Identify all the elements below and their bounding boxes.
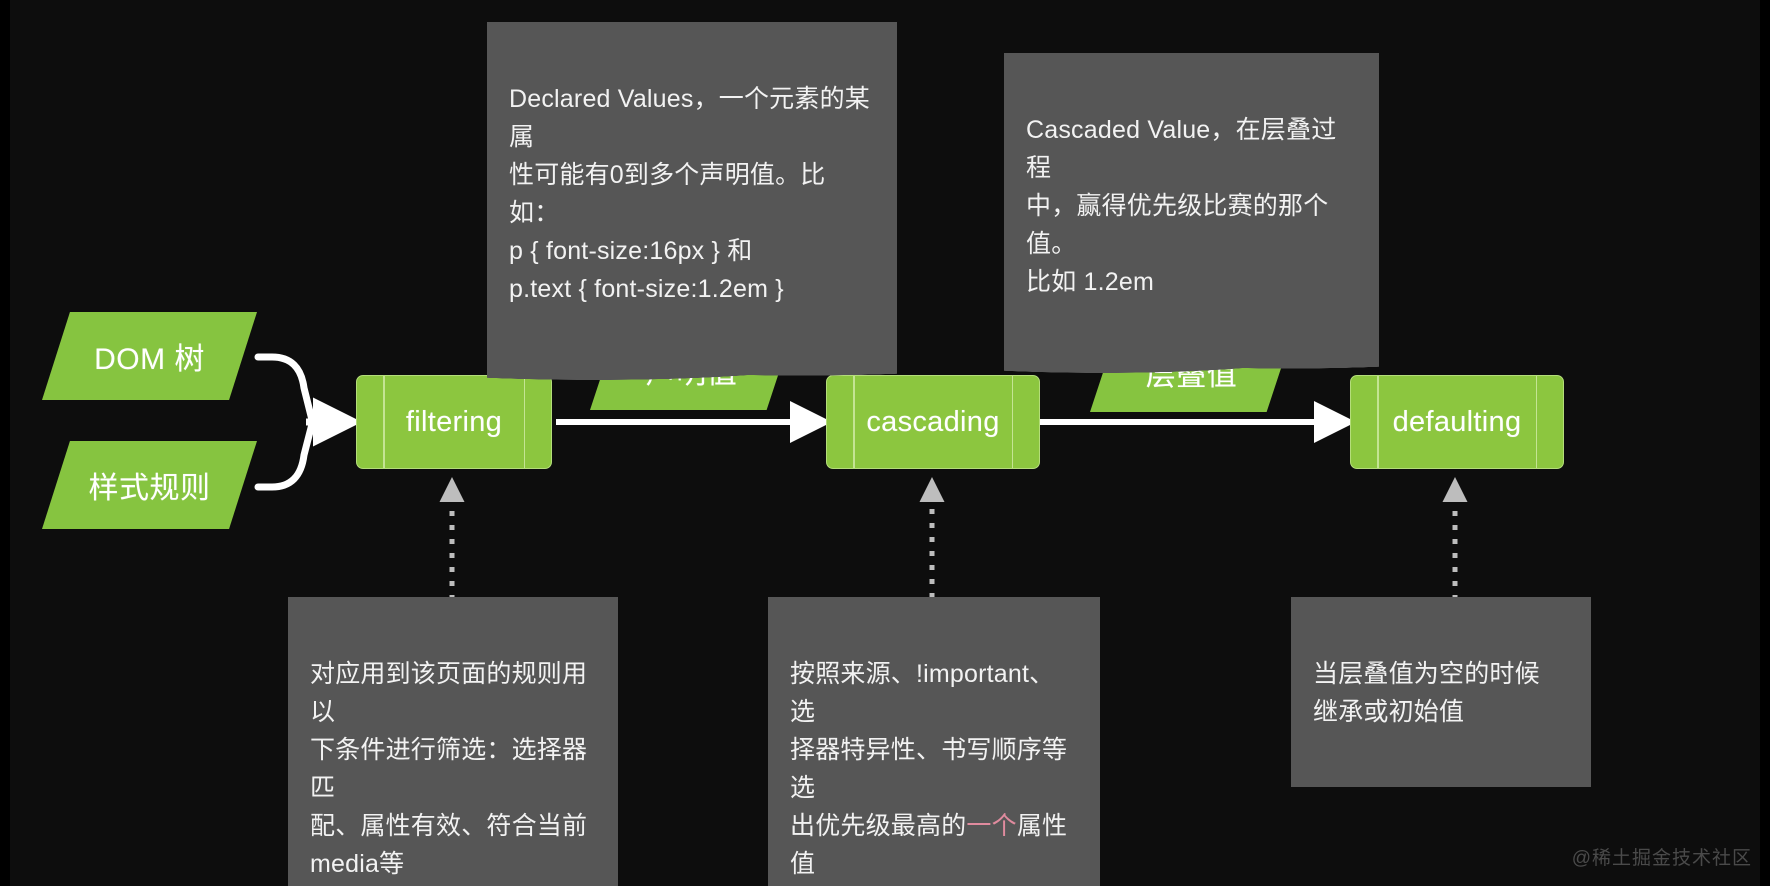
process-right-bar	[524, 376, 526, 468]
stage-cascading: cascading	[826, 375, 1040, 469]
stage-defaulting-label: defaulting	[1393, 406, 1522, 439]
input-dom-tree: DOM 树	[42, 312, 257, 400]
input-dom-tree-label: DOM 树	[94, 334, 205, 378]
note-declared-values-text: Declared Values，一个元素的某属 性可能有0到多个声明值。比如： …	[509, 85, 870, 303]
input-style-rules: 样式规则	[42, 441, 257, 529]
note-defaulting-desc-text: 当层叠值为空的时候 继承或初始值	[1313, 660, 1540, 726]
torn-edge	[1004, 353, 1379, 373]
input-style-rules-label: 样式规则	[89, 463, 211, 507]
note-filtering-desc: 对应用到该页面的规则用以 下条件进行筛选：选择器匹 配、属性有效、符合当前 me…	[288, 597, 618, 886]
diagram-canvas: Declared Values，一个元素的某属 性可能有0到多个声明值。比如： …	[0, 0, 1770, 886]
process-left-bar	[383, 376, 385, 468]
stage-defaulting: defaulting	[1350, 375, 1564, 469]
stage-cascading-label: cascading	[866, 406, 999, 439]
stage-filtering: filtering	[356, 375, 552, 469]
process-left-bar	[1377, 376, 1379, 468]
process-left-bar	[853, 376, 855, 468]
note-cascaded-value-text: Cascaded Value，在层叠过程 中，赢得优先级比赛的那个值。 比如 1…	[1026, 116, 1336, 296]
process-right-bar	[1536, 376, 1538, 468]
note-cascaded-value: Cascaded Value，在层叠过程 中，赢得优先级比赛的那个值。 比如 1…	[1004, 53, 1379, 357]
note-cascading-desc: 按照来源、!important、选 择器特异性、书写顺序等选 出优先级最高的一个…	[768, 597, 1100, 886]
note-filtering-desc-text: 对应用到该页面的规则用以 下条件进行筛选：选择器匹 配、属性有效、符合当前 me…	[310, 660, 587, 878]
note-cascading-desc-highlight: 一个	[966, 812, 1016, 840]
letterbox-right	[1760, 0, 1770, 886]
note-declared-values: Declared Values，一个元素的某属 性可能有0到多个声明值。比如： …	[487, 22, 897, 364]
stage-filtering-label: filtering	[406, 406, 502, 439]
letterbox-left	[0, 0, 10, 886]
watermark: @稀土掘金技术社区	[1572, 843, 1752, 870]
process-right-bar	[1012, 376, 1014, 468]
torn-edge	[487, 360, 897, 380]
note-defaulting-desc: 当层叠值为空的时候 继承或初始值	[1291, 597, 1591, 787]
